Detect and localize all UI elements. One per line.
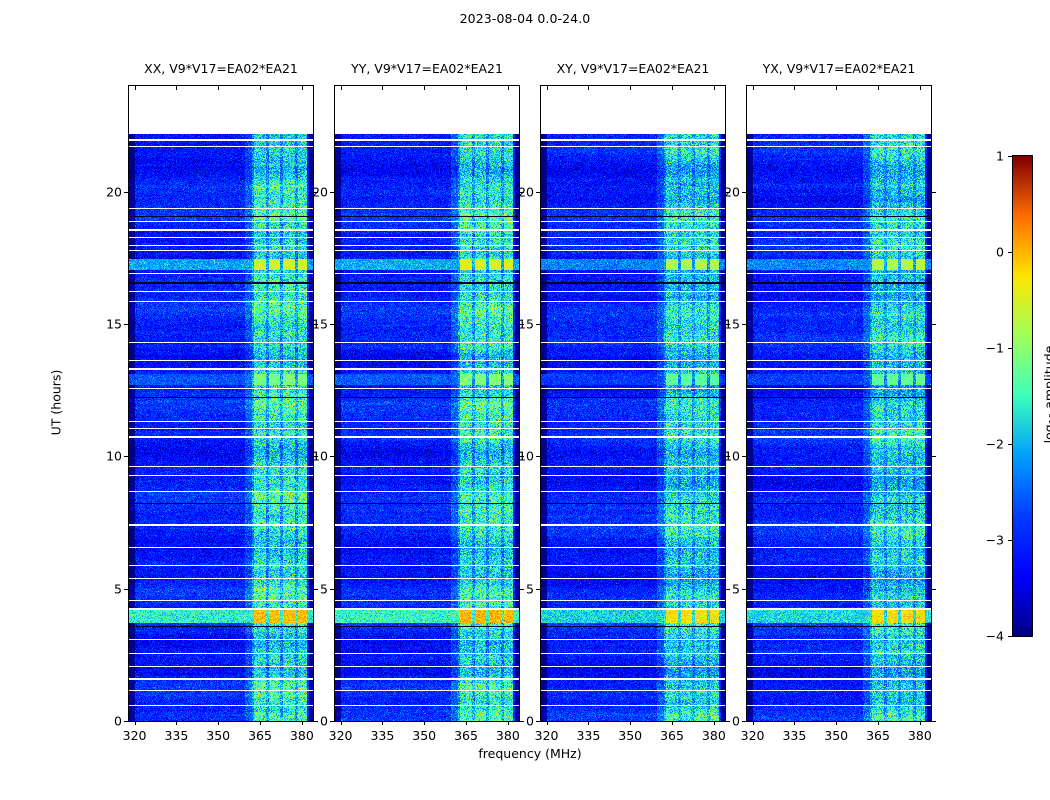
colorbar-tick <box>1008 444 1012 445</box>
y-tick-label: 10 <box>702 449 740 464</box>
x-tick-label: 320 <box>123 728 147 743</box>
y-tick-label: 20 <box>496 184 534 199</box>
y-tick <box>536 192 540 193</box>
y-tick <box>536 589 540 590</box>
colorbar-label-tail: amplitude <box>1042 346 1050 413</box>
y-tick <box>742 456 746 457</box>
y-tick-right <box>932 721 936 722</box>
x-tick-label: 350 <box>206 728 230 743</box>
colorbar-tick-label: 1 <box>966 149 1004 164</box>
y-tick-right <box>726 192 730 193</box>
y-tick-label: 5 <box>84 581 122 596</box>
y-tick-right <box>726 324 730 325</box>
x-tick <box>218 721 219 725</box>
x-tick-top <box>714 86 715 90</box>
x-tick-label: 335 <box>576 728 600 743</box>
x-tick-label: 365 <box>454 728 478 743</box>
x-tick <box>588 721 589 725</box>
y-tick <box>330 721 334 722</box>
x-tick <box>630 721 631 725</box>
y-tick-label: 5 <box>702 581 740 596</box>
colorbar-tick <box>1008 636 1012 637</box>
y-tick-right <box>520 721 524 722</box>
x-tick <box>836 721 837 725</box>
subplot-yy <box>334 85 520 722</box>
y-tick-label: 10 <box>84 449 122 464</box>
x-tick-label: 365 <box>866 728 890 743</box>
y-tick-right <box>932 192 936 193</box>
x-tick-top <box>836 86 837 90</box>
colorbar-label: log10 amplitude <box>1042 315 1050 475</box>
x-tick-top <box>547 86 548 90</box>
x-tick-top <box>753 86 754 90</box>
colorbar-tick-label: −1 <box>966 341 1004 356</box>
y-tick-label: 20 <box>84 184 122 199</box>
x-tick <box>714 721 715 725</box>
y-tick-right <box>520 324 524 325</box>
y-tick-right <box>520 589 524 590</box>
y-tick <box>124 456 128 457</box>
x-tick-label: 320 <box>535 728 559 743</box>
y-tick <box>124 324 128 325</box>
x-tick-top <box>794 86 795 90</box>
y-tick-label: 15 <box>702 317 740 332</box>
x-tick-label: 320 <box>741 728 765 743</box>
y-tick-right <box>314 589 318 590</box>
y-tick <box>742 721 746 722</box>
subplot-title-yy: YY, V9*V17=EA02*EA21 <box>334 61 520 76</box>
subplot-xy <box>540 85 726 722</box>
y-tick-right <box>932 324 936 325</box>
x-tick-top <box>176 86 177 90</box>
colorbar-tick <box>1008 252 1012 253</box>
subplot-xx <box>128 85 314 722</box>
y-tick-right <box>520 192 524 193</box>
x-tick-label: 350 <box>824 728 848 743</box>
y-tick <box>742 192 746 193</box>
y-tick-right <box>314 721 318 722</box>
x-tick-label: 380 <box>908 728 932 743</box>
y-tick-label: 5 <box>496 581 534 596</box>
x-tick <box>508 721 509 725</box>
subplot-title-xx: XX, V9*V17=EA02*EA21 <box>128 61 314 76</box>
y-tick-right <box>726 589 730 590</box>
x-tick <box>424 721 425 725</box>
colorbar-tick-label: −2 <box>966 437 1004 452</box>
y-tick <box>330 589 334 590</box>
colorbar-tick <box>1008 156 1012 157</box>
subplot-yx <box>746 85 932 722</box>
y-tick-label: 20 <box>290 184 328 199</box>
y-tick-label: 20 <box>702 184 740 199</box>
y-tick <box>124 589 128 590</box>
colorbar-tick-label: 0 <box>966 245 1004 260</box>
x-tick-label: 380 <box>496 728 520 743</box>
y-tick-label: 15 <box>84 317 122 332</box>
x-tick-top <box>341 86 342 90</box>
x-tick <box>135 721 136 725</box>
y-tick-label: 0 <box>702 714 740 729</box>
colorbar-tick <box>1008 540 1012 541</box>
y-tick <box>742 324 746 325</box>
y-axis-label: UT (hours) <box>49 322 64 482</box>
x-tick <box>341 721 342 725</box>
x-tick-label: 350 <box>412 728 436 743</box>
x-tick-label: 335 <box>164 728 188 743</box>
y-tick-right <box>932 456 936 457</box>
y-tick-right <box>314 456 318 457</box>
x-tick-label: 380 <box>702 728 726 743</box>
x-tick-top <box>135 86 136 90</box>
x-tick-top <box>672 86 673 90</box>
x-tick-label: 335 <box>782 728 806 743</box>
x-tick <box>753 721 754 725</box>
x-tick-label: 320 <box>329 728 353 743</box>
x-tick <box>547 721 548 725</box>
y-tick <box>330 456 334 457</box>
x-tick <box>382 721 383 725</box>
y-tick-label: 15 <box>290 317 328 332</box>
x-tick-label: 365 <box>248 728 272 743</box>
x-tick <box>878 721 879 725</box>
colorbar-gradient <box>1013 156 1032 636</box>
x-tick-top <box>508 86 509 90</box>
y-tick <box>124 721 128 722</box>
x-tick-top <box>382 86 383 90</box>
colorbar-tick <box>1008 348 1012 349</box>
x-tick-top <box>878 86 879 90</box>
y-tick-right <box>932 589 936 590</box>
x-tick-label: 350 <box>618 728 642 743</box>
x-tick-top <box>260 86 261 90</box>
y-tick-label: 0 <box>496 714 534 729</box>
y-tick <box>536 324 540 325</box>
waterfall-image-xy <box>541 86 725 721</box>
x-tick <box>672 721 673 725</box>
x-tick-label: 335 <box>370 728 394 743</box>
x-tick <box>794 721 795 725</box>
x-tick-top <box>302 86 303 90</box>
x-tick-top <box>424 86 425 90</box>
colorbar-tick-label: −3 <box>966 533 1004 548</box>
x-tick-top <box>630 86 631 90</box>
figure-canvas: 2023-08-04 0.0-24.0 XX, V9*V17=EA02*EA21… <box>0 0 1050 800</box>
x-axis-label: frequency (MHz) <box>128 746 932 761</box>
y-tick-label: 5 <box>290 581 328 596</box>
x-tick-top <box>466 86 467 90</box>
y-tick <box>330 192 334 193</box>
y-tick-right <box>726 456 730 457</box>
x-tick <box>302 721 303 725</box>
waterfall-image-yx <box>747 86 931 721</box>
x-tick-label: 365 <box>660 728 684 743</box>
x-tick <box>920 721 921 725</box>
y-tick-label: 0 <box>84 714 122 729</box>
figure-title: 2023-08-04 0.0-24.0 <box>0 11 1050 26</box>
x-tick <box>176 721 177 725</box>
x-tick-label: 380 <box>290 728 314 743</box>
x-tick <box>260 721 261 725</box>
y-tick <box>330 324 334 325</box>
x-tick-top <box>920 86 921 90</box>
subplot-title-yx: YX, V9*V17=EA02*EA21 <box>746 61 932 76</box>
x-tick-top <box>218 86 219 90</box>
y-tick-right <box>520 456 524 457</box>
subplot-title-xy: XY, V9*V17=EA02*EA21 <box>540 61 726 76</box>
waterfall-image-xx <box>129 86 313 721</box>
y-tick-right <box>726 721 730 722</box>
y-tick-label: 15 <box>496 317 534 332</box>
colorbar-label-text: log <box>1042 424 1050 443</box>
y-tick-label: 10 <box>496 449 534 464</box>
y-tick <box>536 721 540 722</box>
y-tick-right <box>314 192 318 193</box>
y-tick <box>124 192 128 193</box>
y-tick-label: 10 <box>290 449 328 464</box>
y-tick <box>536 456 540 457</box>
y-tick <box>742 589 746 590</box>
waterfall-image-yy <box>335 86 519 721</box>
colorbar <box>1012 155 1033 637</box>
x-tick-top <box>588 86 589 90</box>
x-tick <box>466 721 467 725</box>
y-tick-right <box>314 324 318 325</box>
colorbar-tick-label: −4 <box>966 629 1004 644</box>
y-tick-label: 0 <box>290 714 328 729</box>
